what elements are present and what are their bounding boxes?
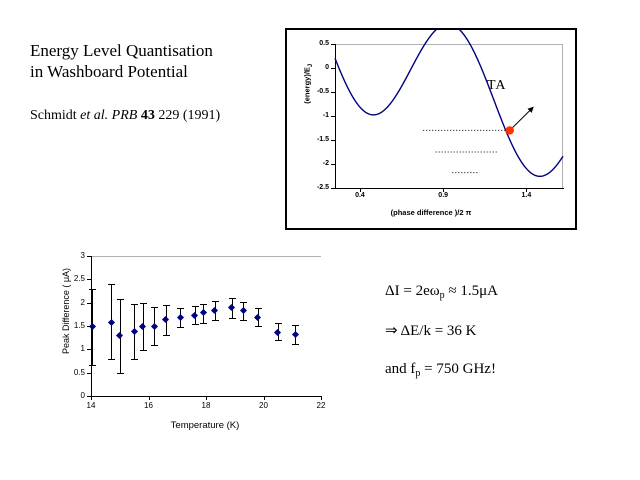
error-bar-cap-top: [212, 301, 219, 302]
scatter-y-tick-mark: [87, 256, 91, 257]
page-title-line-2: in Washboard Potential: [30, 61, 280, 82]
citation-pages-year: 229 (1991): [155, 108, 220, 123]
scatter-x-tick: 18: [191, 401, 221, 410]
error-bar-cap-bottom: [200, 323, 207, 324]
scatter-x-axis-label: Temperature (K): [85, 420, 325, 431]
error-bar-cap-top: [89, 289, 96, 290]
citation-volume: 43: [141, 108, 155, 123]
washboard-y-tick-mark: [331, 44, 335, 45]
error-bar-cap-bottom: [117, 373, 124, 374]
scatter-y-tick-mark: [87, 373, 91, 374]
error-bar-cap-bottom: [163, 335, 170, 336]
error-bar-cap-top: [240, 302, 247, 303]
scatter-x-tick-mark: [321, 396, 322, 400]
error-bar-cap-bottom: [131, 359, 138, 360]
error-bar-cap-top: [163, 305, 170, 306]
error-bar-cap-bottom: [275, 340, 282, 341]
error-bar-cap-top: [177, 308, 184, 309]
scatter-plot-area: [91, 256, 321, 396]
error-bar-cap-top: [151, 307, 158, 308]
washboard-y-tick-mark: [331, 188, 335, 189]
error-bar-cap-bottom: [212, 320, 219, 321]
washboard-x-tick-mark: [360, 188, 361, 192]
washboard-x-tick: 0.9: [428, 192, 458, 199]
washboard-y-tick-mark: [331, 68, 335, 69]
error-bar-cap-top: [229, 298, 236, 299]
scatter-x-tick: 16: [134, 401, 164, 410]
washboard-x-tick: 1.4: [511, 192, 541, 199]
washboard-y-axis-label: (energy)/EJ: [302, 39, 314, 129]
error-bar-cap-top: [192, 306, 199, 307]
scatter-y-tick-mark: [87, 349, 91, 350]
citation-journal: PRB: [108, 108, 141, 123]
equation-plasma-frequency: and fp = 750 GHz!: [385, 361, 595, 378]
ta-label: TA: [487, 78, 507, 94]
equation-delta-i: ΔI = 2eωp ≈ 1.5μA: [385, 283, 595, 300]
citation-etal: et al.: [80, 108, 108, 123]
page-title-line-1: Energy Level Quantisation: [30, 40, 280, 61]
scatter-x-tick-mark: [206, 396, 207, 400]
scatter-x-tick-mark: [149, 396, 150, 400]
washboard-plot-area: [335, 44, 563, 188]
error-bar-cap-bottom: [89, 365, 96, 366]
scatter-y-tick: 0: [45, 391, 85, 400]
washboard-x-tick: 0.4: [345, 192, 375, 199]
scatter-y-axis-label: Peak Difference ( μA): [61, 246, 71, 376]
washboard-x-tick-mark: [526, 188, 527, 192]
error-bar-cap-top: [275, 323, 282, 324]
error-bar-cap-bottom: [140, 350, 147, 351]
error-bar-cap-top: [292, 325, 299, 326]
equations-block: ΔI = 2eωp ≈ 1.5μA ⇒ ΔE/k = 36 K and fp =…: [385, 283, 595, 399]
scatter-y-tick-mark: [87, 279, 91, 280]
error-bar-cap-top: [108, 284, 115, 285]
error-bar-cap-top: [131, 304, 138, 305]
washboard-y-tick-mark: [331, 92, 335, 93]
washboard-x-axis: [335, 188, 564, 189]
citation-author: Schmidt: [30, 108, 80, 123]
scatter-x-tick: 22: [306, 401, 336, 410]
citation: Schmidt et al. PRB 43 229 (1991): [30, 108, 220, 124]
washboard-y-tick-mark: [331, 116, 335, 117]
error-bar-cap-top: [255, 308, 262, 309]
error-bar-cap-top: [117, 299, 124, 300]
error-bar-cap-top: [200, 304, 207, 305]
title-block: Energy Level Quantisation in Washboard P…: [30, 40, 280, 82]
error-bar-cap-bottom: [292, 344, 299, 345]
scatter-y-tick-mark: [87, 303, 91, 304]
washboard-y-axis: [335, 44, 336, 189]
error-bar-cap-bottom: [177, 327, 184, 328]
error-bar-cap-bottom: [229, 318, 236, 319]
error-bar-cap-bottom: [192, 324, 199, 325]
error-bar-cap-bottom: [108, 359, 115, 360]
error-bar-cap-bottom: [151, 345, 158, 346]
scatter-x-tick: 20: [249, 401, 279, 410]
error-bar-cap-bottom: [255, 326, 262, 327]
error-bar-cap-bottom: [240, 320, 247, 321]
scatter-x-tick-mark: [264, 396, 265, 400]
peak-difference-chart: 00.511.522.53 1416182022 Peak Difference…: [45, 248, 330, 448]
washboard-y-tick: -2: [287, 160, 329, 167]
washboard-x-axis-label: (phase difference )/2 π: [287, 208, 575, 217]
washboard-x-tick-mark: [443, 188, 444, 192]
equation-delta-e-over-k: ⇒ ΔE/k = 36 K: [385, 321, 595, 340]
washboard-y-tick: -1.5: [287, 136, 329, 143]
washboard-y-tick: -2.5: [287, 184, 329, 191]
scatter-x-tick-mark: [91, 396, 92, 400]
washboard-y-tick-mark: [331, 140, 335, 141]
washboard-potential-chart: 0.50-0.5-1-1.5-2-2.5 0.40.91.4 TA (energ…: [285, 28, 577, 230]
washboard-y-tick-mark: [331, 164, 335, 165]
scatter-x-tick: 14: [76, 401, 106, 410]
error-bar-cap-top: [140, 303, 147, 304]
